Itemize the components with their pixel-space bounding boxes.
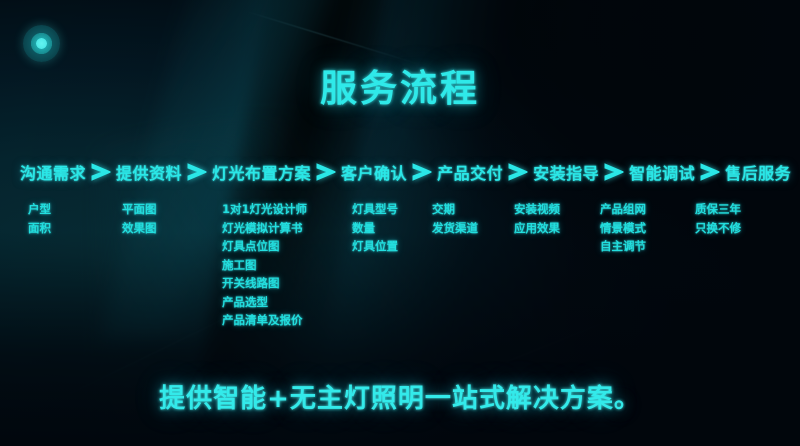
flow-step-label-2[interactable]: 提供资料 (116, 160, 182, 184)
detail-item: 施工图 (222, 256, 307, 275)
chevron-right-icon-5 (507, 162, 529, 182)
flow-step-label-8[interactable]: 售后服务 (725, 160, 791, 184)
flow-step-label-5[interactable]: 产品交付 (437, 160, 503, 184)
detail-item: 交期 (432, 200, 478, 219)
detail-column-5: 交期发货渠道 (432, 200, 478, 237)
chevron-right-icon-1 (90, 162, 112, 182)
flow-step-label-4[interactable]: 客户确认 (341, 160, 407, 184)
detail-item: 产品选型 (222, 293, 307, 312)
detail-item: 灯具点位图 (222, 237, 307, 256)
chevron-right-icon-2 (186, 162, 208, 182)
detail-column-7: 产品组网情景模式自主调节 (600, 200, 646, 256)
page-title: 服务流程 (0, 58, 800, 112)
detail-column-1: 户型面积 (28, 200, 51, 237)
flow-step-label-1[interactable]: 沟通需求 (20, 160, 86, 184)
detail-item: 灯具型号 (352, 200, 398, 219)
detail-columns: 户型面积平面图效果图1对1灯光设计师灯光模拟计算书灯具点位图施工图开关线路图产品… (0, 200, 800, 350)
detail-column-4: 灯具型号数量灯具位置 (352, 200, 398, 256)
process-flow-row: 沟通需求提供资料灯光布置方案客户确认产品交付安装指导智能调试售后服务 (20, 160, 780, 184)
detail-item: 应用效果 (514, 219, 560, 238)
detail-item: 产品清单及报价 (222, 311, 307, 330)
detail-column-2: 平面图效果图 (122, 200, 157, 237)
detail-item: 效果图 (122, 219, 157, 238)
flow-step-label-7[interactable]: 智能调试 (629, 160, 695, 184)
slide-canvas: 服务流程 沟通需求提供资料灯光布置方案客户确认产品交付安装指导智能调试售后服务 … (0, 0, 800, 446)
detail-item: 发货渠道 (432, 219, 478, 238)
flow-step-label-6[interactable]: 安装指导 (533, 160, 599, 184)
detail-item: 自主调节 (600, 237, 646, 256)
detail-item: 只换不修 (695, 219, 741, 238)
chevron-right-icon-7 (699, 162, 721, 182)
detail-item: 1对1灯光设计师 (222, 200, 307, 219)
detail-item: 开关线路图 (222, 274, 307, 293)
detail-item: 质保三年 (695, 200, 741, 219)
detail-item: 灯光模拟计算书 (222, 219, 307, 238)
chevron-right-icon-3 (315, 162, 337, 182)
chevron-right-icon-6 (603, 162, 625, 182)
flow-step-label-3[interactable]: 灯光布置方案 (212, 160, 311, 184)
detail-item: 面积 (28, 219, 51, 238)
detail-column-3: 1对1灯光设计师灯光模拟计算书灯具点位图施工图开关线路图产品选型产品清单及报价 (222, 200, 307, 330)
chevron-right-icon-4 (411, 162, 433, 182)
detail-column-8: 质保三年只换不修 (695, 200, 741, 237)
footer-tagline: 提供智能+无主灯照明一站式解决方案。 (0, 378, 800, 415)
detail-item: 户型 (28, 200, 51, 219)
concentric-circle-logo-icon (23, 25, 60, 62)
detail-item: 灯具位置 (352, 237, 398, 256)
detail-item: 产品组网 (600, 200, 646, 219)
detail-item: 情景模式 (600, 219, 646, 238)
detail-item: 平面图 (122, 200, 157, 219)
detail-item: 数量 (352, 219, 398, 238)
detail-column-6: 安装视频应用效果 (514, 200, 560, 237)
detail-item: 安装视频 (514, 200, 560, 219)
